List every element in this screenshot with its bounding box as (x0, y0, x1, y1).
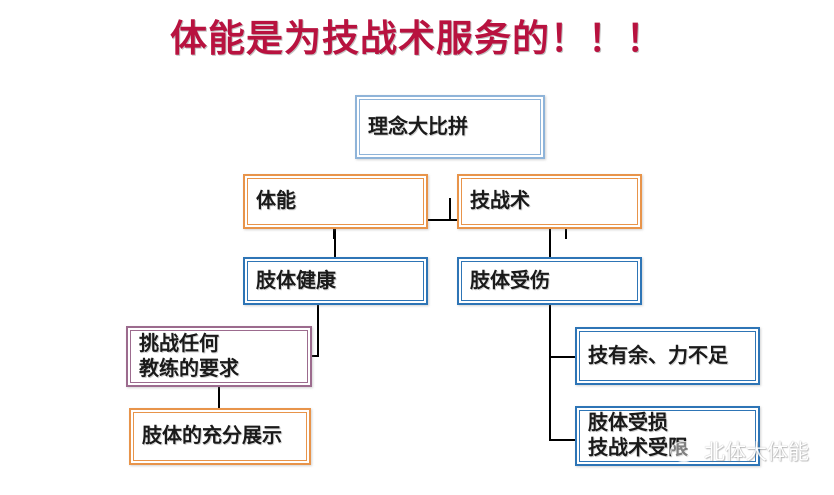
node-zhiti-shousun-label: 肢体受损 技战术受限 (588, 411, 688, 461)
node-ji-youyu-li-buzu[interactable]: 技有余、力不足 (575, 327, 760, 385)
node-zhiti-zhanshi[interactable]: 肢体的充分展示 (129, 408, 311, 465)
node-tiaozhan-renhe-label: 挑战任何 教练的要求 (139, 332, 239, 382)
node-tineng-inner: 体能 (247, 178, 424, 225)
connector-right-branch-2 (549, 439, 577, 441)
node-zhiti-shousun[interactable]: 肢体受损 技战术受限 (575, 406, 760, 466)
node-ji-youyu-li-buzu-label: 技有余、力不足 (588, 344, 728, 369)
node-tineng-label: 体能 (256, 189, 296, 214)
node-ji-youyu-li-buzu-inner: 技有余、力不足 (579, 331, 756, 381)
node-zhiti-shousun-inner: 肢体受损 技战术受限 (579, 410, 756, 462)
node-jizhanshu-inner: 技战术 (461, 178, 638, 225)
connector-left-trunk (317, 304, 319, 356)
connector-right-branch-1 (549, 356, 577, 358)
connector-right-trunk (549, 304, 551, 441)
node-root-label: 理念大比拼 (368, 115, 468, 140)
node-root-inner: 理念大比拼 (359, 99, 541, 155)
node-zhiti-shoushang[interactable]: 肢体受伤 (457, 257, 642, 305)
connector-jizhanshu-to-zhitishoushang (549, 228, 551, 260)
node-jizhanshu-label: 技战术 (470, 189, 530, 214)
node-zhiti-zhanshi-inner: 肢体的充分展示 (133, 412, 307, 461)
node-jizhanshu[interactable]: 技战术 (457, 174, 642, 229)
node-zhiti-shoushang-label: 肢体受伤 (470, 269, 550, 294)
slide-canvas: 体能是为技战术服务的！！！ 理念大比拼 体能 技战术 肢体健康 (0, 0, 834, 495)
connector-tineng-to-zhitijiankang (334, 228, 336, 260)
node-root[interactable]: 理念大比拼 (355, 95, 545, 159)
node-zhiti-jiankang[interactable]: 肢体健康 (243, 257, 428, 305)
node-tiaozhan-renhe-inner: 挑战任何 教练的要求 (130, 330, 308, 383)
node-tiaozhan-renhe[interactable]: 挑战任何 教练的要求 (126, 326, 312, 387)
node-tineng[interactable]: 体能 (243, 174, 428, 229)
connector-purple-to-orange (218, 387, 220, 409)
page-title: 体能是为技战术服务的！！！ (0, 8, 834, 62)
connector-root-stem (449, 198, 451, 220)
node-zhiti-jiankang-label: 肢体健康 (256, 269, 336, 294)
node-zhiti-shoushang-inner: 肢体受伤 (461, 261, 638, 301)
node-zhiti-zhanshi-label: 肢体的充分展示 (142, 424, 282, 449)
node-zhiti-jiankang-inner: 肢体健康 (247, 261, 424, 301)
